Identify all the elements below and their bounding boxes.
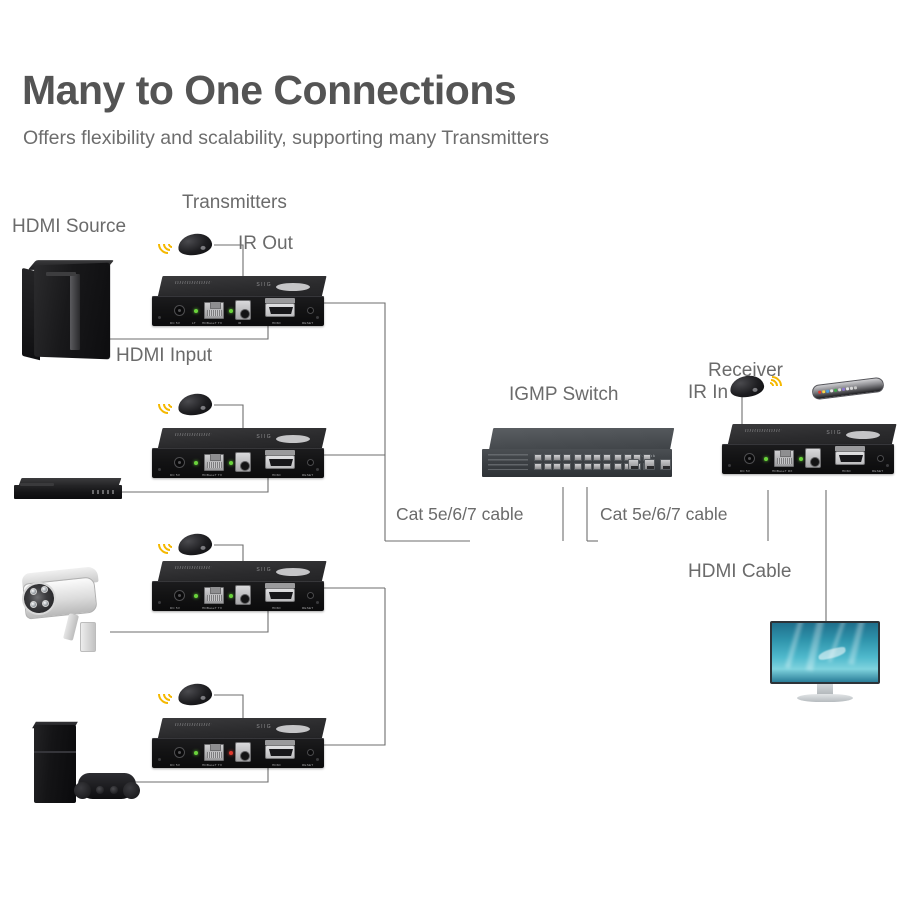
reset-button[interactable] <box>877 455 884 462</box>
port-label-reset: RESET <box>872 469 883 473</box>
switch-port-group-1[interactable] <box>534 454 571 470</box>
console-chassis <box>34 725 76 803</box>
port-label-dc: DC 5V <box>170 763 180 767</box>
tv-stand-base <box>797 694 853 702</box>
device-brand-text: SIIG <box>256 724 272 730</box>
switch-front-panel: D-Link <box>482 449 672 477</box>
port-label-ir: IR <box>238 321 242 325</box>
ir-signal-waves <box>156 393 178 415</box>
port-label-reset: RESET <box>302 763 313 767</box>
device-front-panel: DC 5V HDBaseT TX HDMI RESET <box>152 738 324 768</box>
rj45-hdbaset-port[interactable] <box>204 744 224 761</box>
transmitter-device-2: SIIG DC 5V HDBaseT TX HDMI RESET <box>152 428 324 486</box>
television-display <box>770 621 880 703</box>
device-vent-strip <box>175 723 212 726</box>
reset-button[interactable] <box>307 459 314 466</box>
port-label-dc: DC 5V <box>170 321 180 325</box>
port-label-hdmi: HDMI <box>272 321 281 325</box>
port-label-reset: RESET <box>302 606 313 610</box>
hdmi-input-port[interactable] <box>265 745 295 759</box>
label-hdmi-cable: HDMI Cable <box>688 561 791 583</box>
device-brand-text: SIIG <box>256 567 272 573</box>
label-ir-in: IR In <box>688 382 728 404</box>
bluray-front-panel <box>14 485 122 499</box>
link-led <box>229 751 233 755</box>
device-logo-badge <box>276 283 310 291</box>
port-label-hdmi: HDMI <box>272 606 281 610</box>
port-label-dc: DC 5V <box>170 473 180 477</box>
reset-button[interactable] <box>307 307 314 314</box>
pc-front-bezel <box>70 274 80 350</box>
dc-in-jack[interactable] <box>174 305 185 316</box>
ir-emitter-dongle-1 <box>156 230 214 260</box>
port-label-dc: DC 5V <box>740 469 750 473</box>
link-led <box>229 461 233 465</box>
ir-port[interactable] <box>235 585 251 605</box>
transmitter-device-4: SIIG DC 5V HDBaseT TX HDMI RESET <box>152 718 324 776</box>
dc-in-jack[interactable] <box>744 453 755 464</box>
dc-in-jack[interactable] <box>174 747 185 758</box>
switch-uplink-port-2[interactable] <box>644 459 655 470</box>
link-led <box>799 457 803 461</box>
label-cat-cable-left: Cat 5e/6/7 cable <box>396 504 523 525</box>
game-controller <box>78 773 136 799</box>
device-vent-strip <box>175 566 212 569</box>
camera-mount-arm <box>63 613 79 641</box>
device-logo-badge <box>846 431 880 439</box>
power-led <box>194 594 198 598</box>
hdmi-input-port[interactable] <box>265 303 295 317</box>
label-cat-cable-right: Cat 5e/6/7 cable <box>600 504 727 525</box>
ir-signal-waves <box>156 533 178 555</box>
source-bluray-player <box>14 478 122 504</box>
ir-port[interactable] <box>805 448 821 468</box>
ir-receiver-head <box>729 374 766 400</box>
link-led <box>229 309 233 313</box>
tv-screen <box>770 621 880 684</box>
ir-remote-control[interactable] <box>812 377 884 403</box>
ir-receiver-dongle <box>726 372 784 402</box>
device-front-panel: DC 5V HDBaseT TX HDMI RESET <box>152 448 324 478</box>
device-vent-strip <box>745 429 782 432</box>
device-vent-strip <box>175 281 212 284</box>
port-label-reset: RESET <box>302 473 313 477</box>
device-front-panel: DC 5V HDBaseT RX HDMI RESET <box>722 444 894 474</box>
ir-signal-waves <box>156 683 178 705</box>
reset-button[interactable] <box>307 592 314 599</box>
pc-optical-drive-slot <box>46 272 76 276</box>
ir-emitter-dongle-2 <box>156 390 214 420</box>
hdmi-output-port[interactable] <box>835 451 865 465</box>
label-igmp-switch: IGMP Switch <box>509 384 618 406</box>
port-label-rj45: HDBaseT TX <box>202 606 222 610</box>
ir-emitter-head <box>177 532 214 558</box>
label-ir-out: IR Out <box>238 233 293 255</box>
port-label-hdmi: HDMI <box>842 469 851 473</box>
switch-uplink-port-3[interactable] <box>660 459 671 470</box>
receiver-device: SIIG DC 5V HDBaseT RX HDMI RESET <box>722 424 894 482</box>
switch-port-group-2[interactable] <box>574 454 611 470</box>
hdmi-source-pc-tower <box>22 252 126 362</box>
power-led <box>194 751 198 755</box>
device-logo-badge <box>276 435 310 443</box>
ir-emitter-dongle-4 <box>156 680 214 710</box>
ir-signal-waves <box>156 233 178 255</box>
port-label-rj45: HDBaseT TX <box>202 763 222 767</box>
device-front-panel: DC 5V HDBaseT TX HDMI RESET <box>152 581 324 611</box>
camera-ir-led-2 <box>41 586 48 593</box>
device-front-panel: DC 5V LT HDBaseT TX IR HDMI RESET <box>152 296 324 326</box>
source-game-console <box>28 725 148 809</box>
rj45-hdbaset-port[interactable] <box>204 587 224 604</box>
hdmi-input-port[interactable] <box>265 588 295 602</box>
rj45-hdbaset-port[interactable] <box>204 302 224 319</box>
ir-emitter-head <box>177 682 214 708</box>
camera-wall-bracket <box>80 622 96 652</box>
port-label-hdmi: HDMI <box>272 763 281 767</box>
power-led <box>194 309 198 313</box>
device-logo-badge <box>276 568 310 576</box>
camera-ir-led-3 <box>30 601 37 608</box>
device-brand-text: SIIG <box>256 434 272 440</box>
transmitter-device-1: SIIG DC 5V LT HDBaseT TX IR HDMI RESET <box>152 276 324 334</box>
ir-port[interactable] <box>235 452 251 472</box>
port-label-rj45: HDBaseT TX <box>202 473 222 477</box>
port-label-led: LT <box>192 321 196 325</box>
ir-emitter-head <box>177 392 214 418</box>
source-cctv-camera <box>14 560 124 656</box>
ir-port[interactable] <box>235 300 251 320</box>
device-vent-strip <box>175 433 212 436</box>
switch-uplink-port-1[interactable] <box>628 459 639 470</box>
ir-emitter-dongle-3 <box>156 530 214 560</box>
label-transmitters: Transmitters <box>182 192 287 214</box>
power-led <box>764 457 768 461</box>
port-label-rj45: HDBaseT RX <box>772 469 793 473</box>
switch-top-cover <box>489 428 674 451</box>
rj45-hdbaset-port[interactable] <box>204 454 224 471</box>
port-label-dc: DC 5V <box>170 606 180 610</box>
rj45-hdbaset-port[interactable] <box>774 450 794 467</box>
hdmi-input-port[interactable] <box>265 455 295 469</box>
transmitter-device-3: SIIG DC 5V HDBaseT TX HDMI RESET <box>152 561 324 619</box>
controller-right-stick <box>110 786 118 794</box>
controller-left-stick <box>96 786 104 794</box>
dc-in-jack[interactable] <box>174 457 185 468</box>
switch-status-leds <box>488 454 528 470</box>
ir-emitter-head <box>177 232 214 258</box>
power-led <box>194 461 198 465</box>
port-label-reset: RESET <box>302 321 313 325</box>
dc-in-jack[interactable] <box>174 590 185 601</box>
device-logo-badge <box>276 725 310 733</box>
igmp-switch-device: D-Link <box>482 428 672 484</box>
port-label-rj45: HDBaseT TX <box>202 321 222 325</box>
reset-button[interactable] <box>307 749 314 756</box>
camera-ir-led-4 <box>42 600 49 607</box>
device-brand-text: SIIG <box>256 282 272 288</box>
ir-port[interactable] <box>235 742 251 762</box>
port-label-hdmi: HDMI <box>272 473 281 477</box>
device-brand-text: SIIG <box>826 430 842 436</box>
label-hdmi-source: HDMI Source <box>12 216 126 238</box>
label-hdmi-input: HDMI Input <box>116 345 212 367</box>
ir-signal-waves <box>766 375 788 397</box>
link-led <box>229 594 233 598</box>
camera-ir-led-1 <box>30 588 37 595</box>
bluray-disc-tray <box>20 483 54 486</box>
